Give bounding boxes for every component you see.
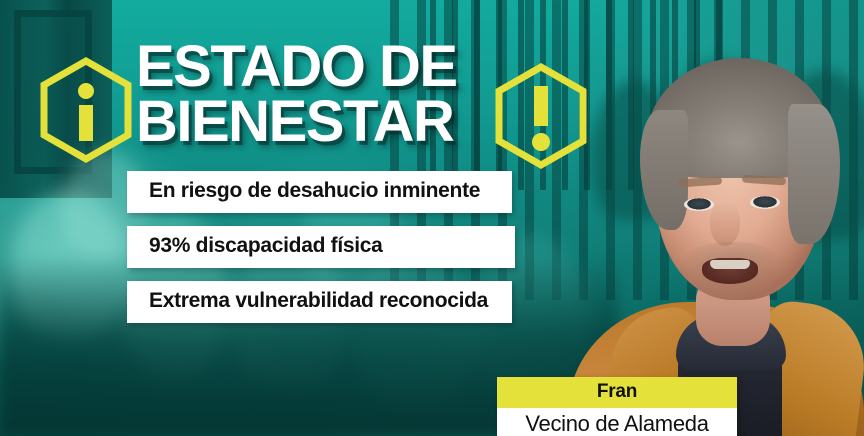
speaker-role: Vecino de Alameda (497, 408, 737, 436)
portrait-teeth (710, 260, 750, 269)
exclamation-hexagon-icon (493, 62, 589, 170)
info-hexagon-icon (38, 56, 134, 164)
portrait-hair-left (640, 110, 688, 230)
page-title: ESTADO DE BIENESTAR (136, 40, 506, 149)
fact-list: En riesgo de desahucio inminente 93% dis… (127, 171, 515, 336)
portrait-eye-left (684, 198, 714, 211)
portrait-eye-right (750, 196, 780, 209)
fact-item: En riesgo de desahucio inminente (127, 171, 512, 213)
portrait-hair-right (788, 104, 840, 244)
news-graphic-stage: ESTADO DE BIENESTAR En riesgo de desahuc… (0, 0, 864, 436)
portrait-nose (710, 202, 740, 246)
fact-item: Extrema vulnerabilidad reconocida (127, 281, 512, 323)
speaker-name: Fran (497, 377, 737, 408)
headline-line-2: BIENESTAR (136, 95, 506, 150)
fact-item: 93% discapacidad física (127, 226, 515, 268)
lower-third-name-banner: Fran Vecino de Alameda (497, 377, 737, 436)
